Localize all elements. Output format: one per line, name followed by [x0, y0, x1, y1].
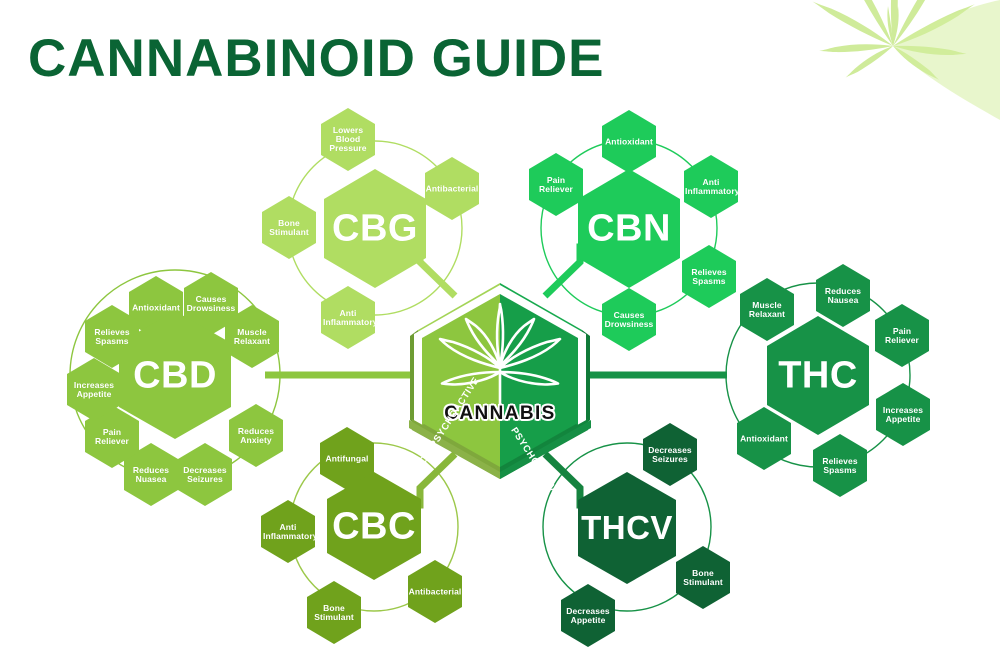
satellite-hex[interactable] — [229, 404, 283, 467]
cluster-cbc[interactable] — [261, 427, 462, 644]
hub-hex-thc[interactable] — [767, 316, 869, 435]
satellite-hex[interactable] — [602, 288, 656, 351]
satellite-hex[interactable] — [643, 423, 697, 486]
satellite-hex[interactable] — [602, 110, 656, 173]
satellite-hex[interactable] — [261, 500, 315, 563]
satellite-hex[interactable] — [813, 434, 867, 497]
satellite-hex[interactable] — [262, 196, 316, 259]
satellite-hex[interactable] — [408, 560, 462, 623]
satellite-hex[interactable] — [561, 584, 615, 647]
hub-hex-cbg[interactable] — [324, 169, 426, 288]
cluster-cbd[interactable] — [67, 272, 283, 506]
center-node[interactable] — [409, 283, 591, 479]
satellite-hex[interactable] — [875, 304, 929, 367]
cluster-cbg[interactable] — [262, 108, 479, 349]
cluster-thcv[interactable] — [561, 423, 730, 647]
satellite-hex[interactable] — [676, 546, 730, 609]
satellite-hex[interactable] — [816, 264, 870, 327]
satellite-hex[interactable] — [178, 443, 232, 506]
satellite-hex[interactable] — [876, 383, 930, 446]
infographic-canvas: CANNABINOID GUIDE CBG Lowers Blood Press… — [0, 0, 1000, 667]
satellite-hex[interactable] — [307, 581, 361, 644]
hub-hex-cbn[interactable] — [578, 169, 680, 288]
satellite-hex[interactable] — [740, 278, 794, 341]
satellite-hex[interactable] — [684, 155, 738, 218]
hub-hex-cbc[interactable] — [327, 472, 421, 580]
diagram-svg — [0, 0, 1000, 667]
page-title: CANNABINOID GUIDE — [28, 28, 604, 89]
cluster-thc[interactable] — [737, 264, 930, 497]
satellite-hex[interactable] — [425, 157, 479, 220]
hub-hex-thcv[interactable] — [578, 472, 676, 584]
satellite-hex[interactable] — [682, 245, 736, 308]
satellite-hex[interactable] — [321, 108, 375, 171]
satellite-hex[interactable] — [529, 153, 583, 216]
satellite-hex[interactable] — [321, 286, 375, 349]
cluster-cbn[interactable] — [529, 110, 738, 351]
